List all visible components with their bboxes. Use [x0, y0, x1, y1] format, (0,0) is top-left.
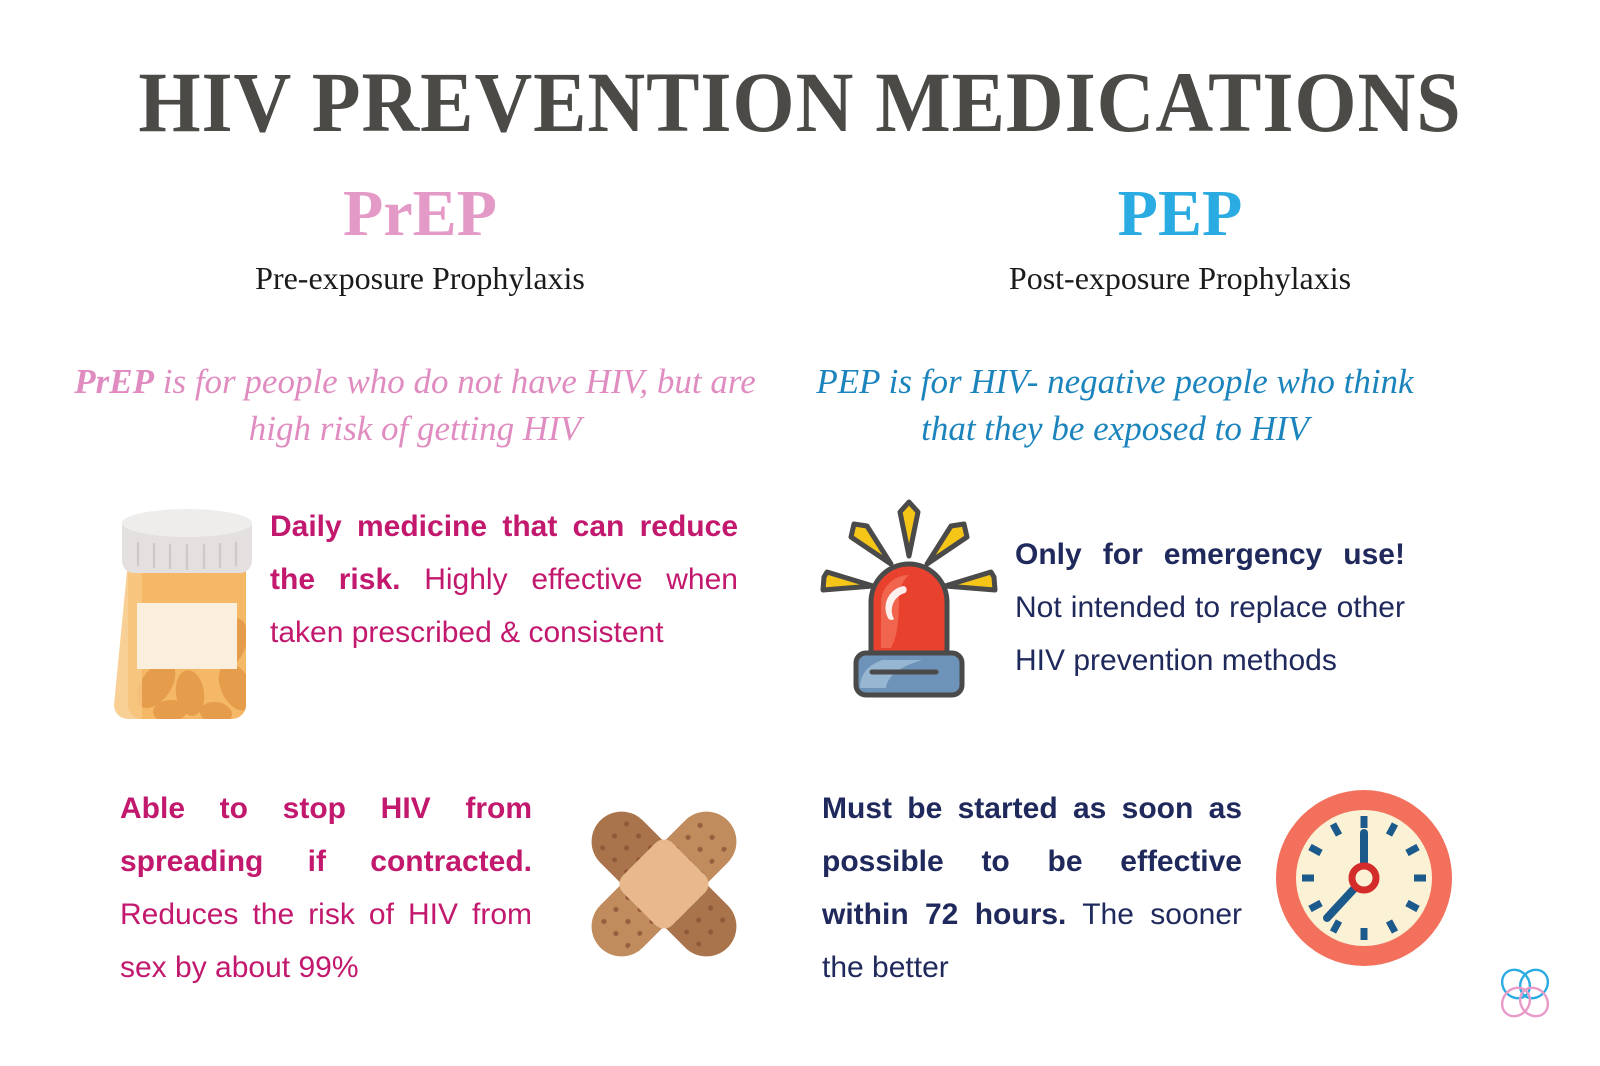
pep-subtitle: Post-exposure Prophylaxis: [820, 256, 1540, 300]
pep-tagline-rest: PEP is for HIV- negative people who thin…: [816, 362, 1413, 448]
interlocking-loops-logo: [1494, 962, 1556, 1024]
prep-abbreviation: PrEP: [60, 178, 780, 250]
pep-point-1-text: Only for emergency use! Not intended to …: [1015, 528, 1405, 687]
prep-point-2: Able to stop HIV from spreading if contr…: [120, 782, 532, 994]
emergency-siren-icon: [818, 498, 1000, 698]
pill-bottle-icon: [108, 497, 266, 725]
pep-tagline: PEP is for HIV- negative people who thin…: [790, 358, 1440, 452]
pep-point-1: Only for emergency use! Not intended to …: [1015, 528, 1405, 687]
prep-tagline-bold: PrEP: [74, 362, 154, 401]
prep-subtitle: Pre-exposure Prophylaxis: [60, 256, 780, 300]
crossed-bandages-icon: [556, 778, 772, 990]
prep-point-2-bold: Able to stop HIV from spreading if contr…: [120, 792, 532, 878]
page-title: HIV PREVENTION MEDICATIONS: [56, 52, 1544, 152]
prep-tagline: PrEP is for people who do not have HIV, …: [70, 358, 760, 452]
prep-tagline-rest: is for people who do not have HIV, but a…: [154, 362, 756, 448]
pep-abbreviation: PEP: [820, 178, 1540, 250]
prep-point-1-text: Daily medicine that can reduce the risk.…: [270, 500, 738, 659]
prep-point-1: Daily medicine that can reduce the risk.…: [270, 500, 738, 659]
pep-point-1-rest: Not intended to replace other HIV preven…: [1015, 591, 1405, 677]
pep-point-1-bold: Only for emergency use!: [1015, 538, 1405, 571]
prep-column-header: PrEP Pre-exposure Prophylaxis: [60, 178, 780, 300]
pep-column-header: PEP Post-exposure Prophylaxis: [820, 178, 1540, 300]
pep-point-2-text: Must be started as soon as possible to b…: [822, 782, 1242, 994]
pep-point-2: Must be started as soon as possible to b…: [822, 782, 1242, 994]
prep-point-2-text: Able to stop HIV from spreading if contr…: [120, 782, 532, 994]
clock-icon: [1272, 785, 1456, 971]
prep-point-2-rest: Reduces the risk of HIV from sex by abou…: [120, 898, 532, 984]
